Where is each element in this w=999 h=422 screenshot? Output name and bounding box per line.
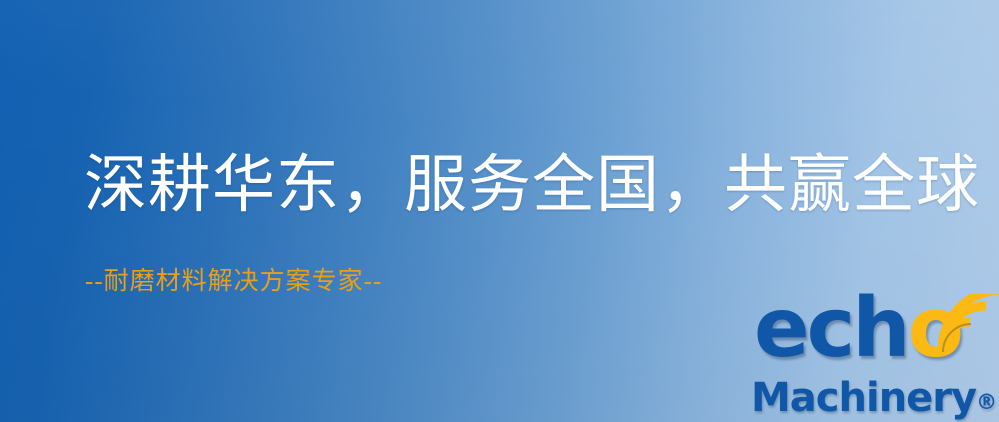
signal-arcs-icon	[938, 294, 999, 356]
banner-subtitle: --耐磨材料解决方案专家--	[85, 268, 382, 296]
logo-tagline: Machinery®	[751, 378, 997, 418]
echo-machinery-logo[interactable]: echo Machinery®	[745, 292, 999, 422]
hero-banner: 深耕华东，服务全国，共赢全球 --耐磨材料解决方案专家-- echo Machi…	[0, 0, 999, 422]
registered-trademark-icon: ®	[976, 390, 997, 414]
logo-tagline-text: Machinery	[751, 375, 976, 421]
logo-brand-text: echo	[754, 288, 961, 370]
banner-headline: 深耕华东，服务全国，共赢全球	[84, 152, 980, 218]
logo-wordmark: echo	[750, 294, 999, 380]
logo-brand-prefix: ech	[754, 281, 908, 376]
